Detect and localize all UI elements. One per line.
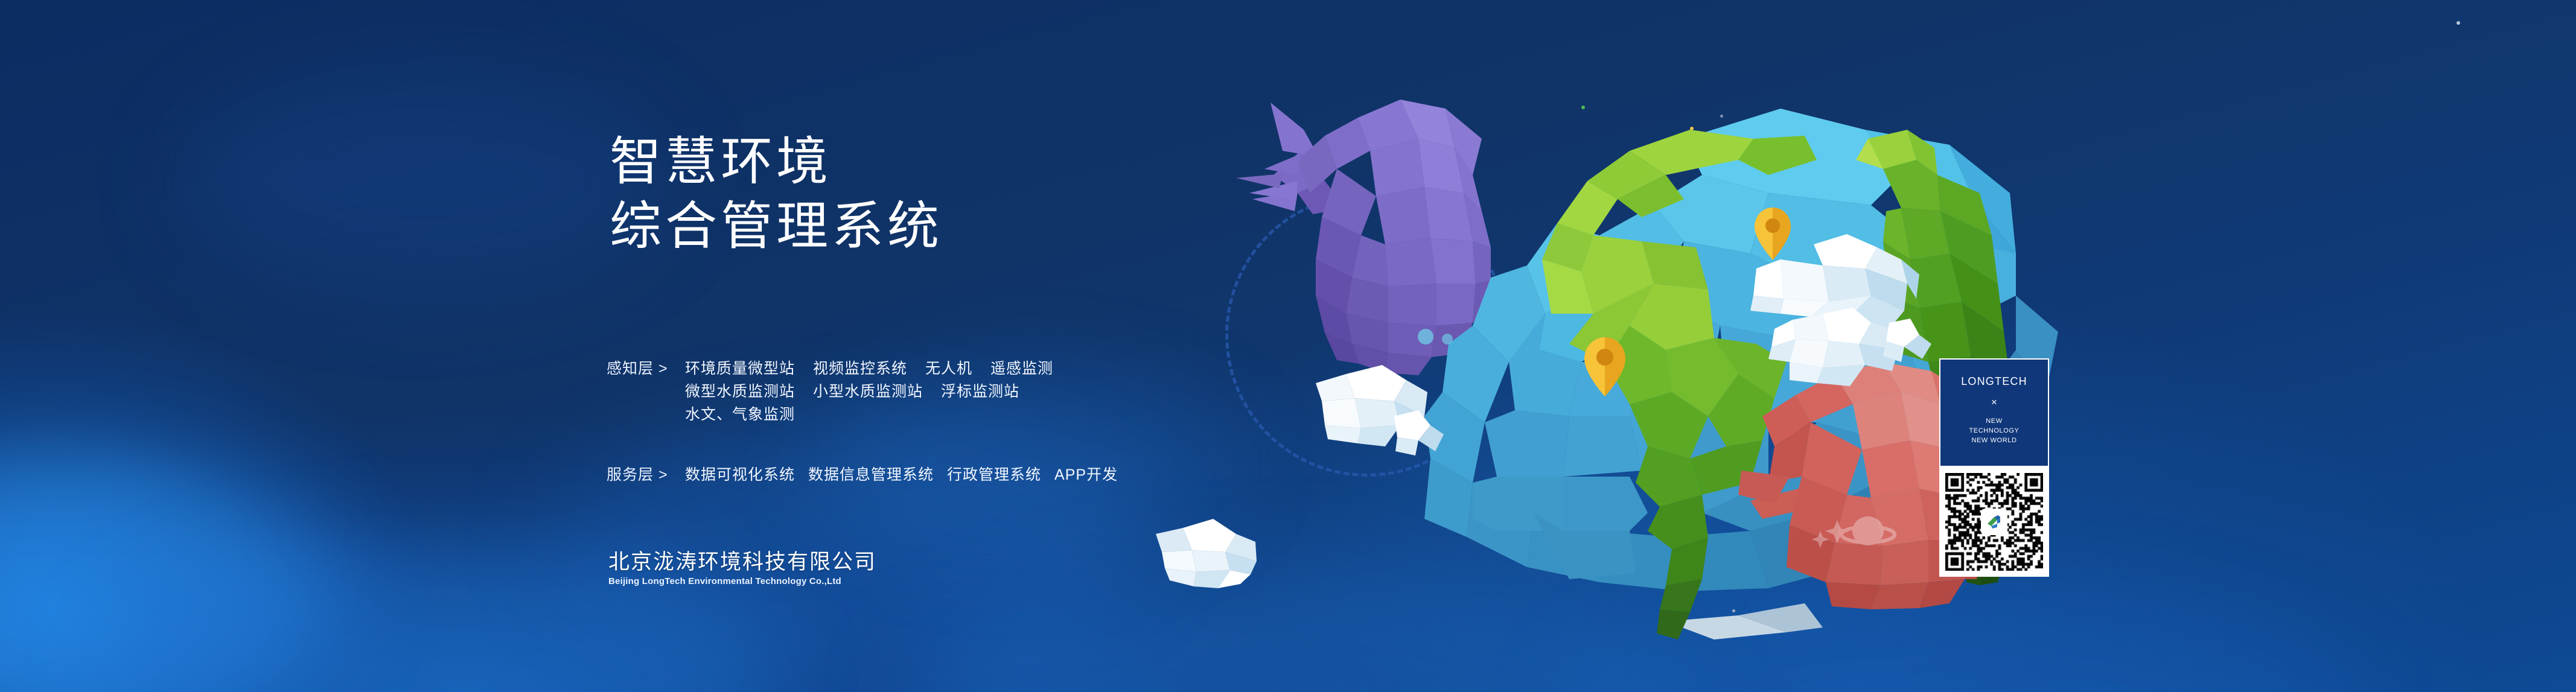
perception-layer-label[interactable]: 感知层 >	[607, 357, 685, 380]
perception-layer-row: 感知层 > 环境质量微型站 视频监控系统 无人机 遥感监测 微型水质监测站 小型…	[607, 357, 1150, 426]
page-title-line-2: 综合管理系统	[610, 194, 1153, 259]
layer-item[interactable]: 浮标监测站	[941, 380, 1019, 403]
tagline-line-3: NEW WORLD	[1969, 436, 2019, 446]
layer-item[interactable]: 水文、气象监测	[685, 403, 795, 426]
layer-item[interactable]: APP开发	[1054, 463, 1118, 486]
tagline-line-1: NEW	[1969, 417, 2019, 427]
brand-tagline: NEW TECHNOLOGY NEW WORLD	[1969, 417, 2019, 446]
service-layer-items: 数据可视化系统 数据信息管理系统 行政管理系统 APP开发	[685, 463, 1131, 486]
company-block: 北京泷涛环境科技有限公司 Beijing LongTech Environmen…	[608, 550, 876, 586]
purple-planet	[1236, 100, 1491, 375]
layer-list: 感知层 > 环境质量微型站 视频监控系统 无人机 遥感监测 微型水质监测站 小型…	[607, 357, 1150, 490]
layer-item[interactable]: 行政管理系统	[947, 463, 1041, 486]
qr-center-logo	[1981, 509, 2007, 535]
cloud-bottom	[1156, 519, 1257, 588]
hero-copy: 智慧环境 综合管理系统	[610, 130, 1153, 258]
service-layer-row: 服务层 > 数据可视化系统 数据信息管理系统 行政管理系统 APP开发	[607, 463, 1150, 486]
cross-icon: ×	[1991, 396, 1997, 408]
ocean-dot	[1442, 334, 1453, 344]
space-illustration	[0, 0, 2576, 692]
hero-banner: 智慧环境 综合管理系统 感知层 > 环境质量微型站 视频监控系统 无人机 遥感监…	[0, 0, 2576, 692]
cloud-cluster-left	[1316, 365, 1444, 456]
company-name-cn: 北京泷涛环境科技有限公司	[608, 550, 876, 574]
qr-card-header: LONGTECH × NEW TECHNOLOGY NEW WORLD	[1939, 358, 2049, 467]
layer-item[interactable]: 数据信息管理系统	[808, 463, 934, 486]
layer-item[interactable]: 数据可视化系统	[685, 463, 795, 486]
layer-item[interactable]: 视频监控系统	[813, 357, 907, 380]
layer-item[interactable]: 小型水质监测站	[813, 380, 923, 403]
company-name-en: Beijing LongTech Environmental Technolog…	[608, 576, 876, 586]
perception-layer-items: 环境质量微型站 视频监控系统 无人机 遥感监测 微型水质监测站 小型水质监测站 …	[685, 357, 1144, 426]
layer-item[interactable]: 微型水质监测站	[685, 380, 795, 403]
longtech-logo-icon	[1984, 512, 2004, 532]
layer-item[interactable]: 无人机	[925, 357, 972, 380]
qr-code[interactable]	[1945, 473, 2043, 571]
page-title-line-1: 智慧环境	[610, 130, 1153, 194]
tagline-line-2: TECHNOLOGY	[1969, 427, 2019, 436]
service-layer-label[interactable]: 服务层 >	[607, 463, 685, 486]
brand-name: LONGTECH	[1961, 375, 2027, 388]
layer-item[interactable]: 遥感监测	[990, 357, 1053, 380]
qr-code-container[interactable]	[1939, 467, 2049, 577]
qr-card: LONGTECH × NEW TECHNOLOGY NEW WORLD	[1939, 358, 2049, 577]
layer-item[interactable]: 环境质量微型站	[685, 357, 795, 380]
ocean-dot	[1418, 329, 1433, 344]
